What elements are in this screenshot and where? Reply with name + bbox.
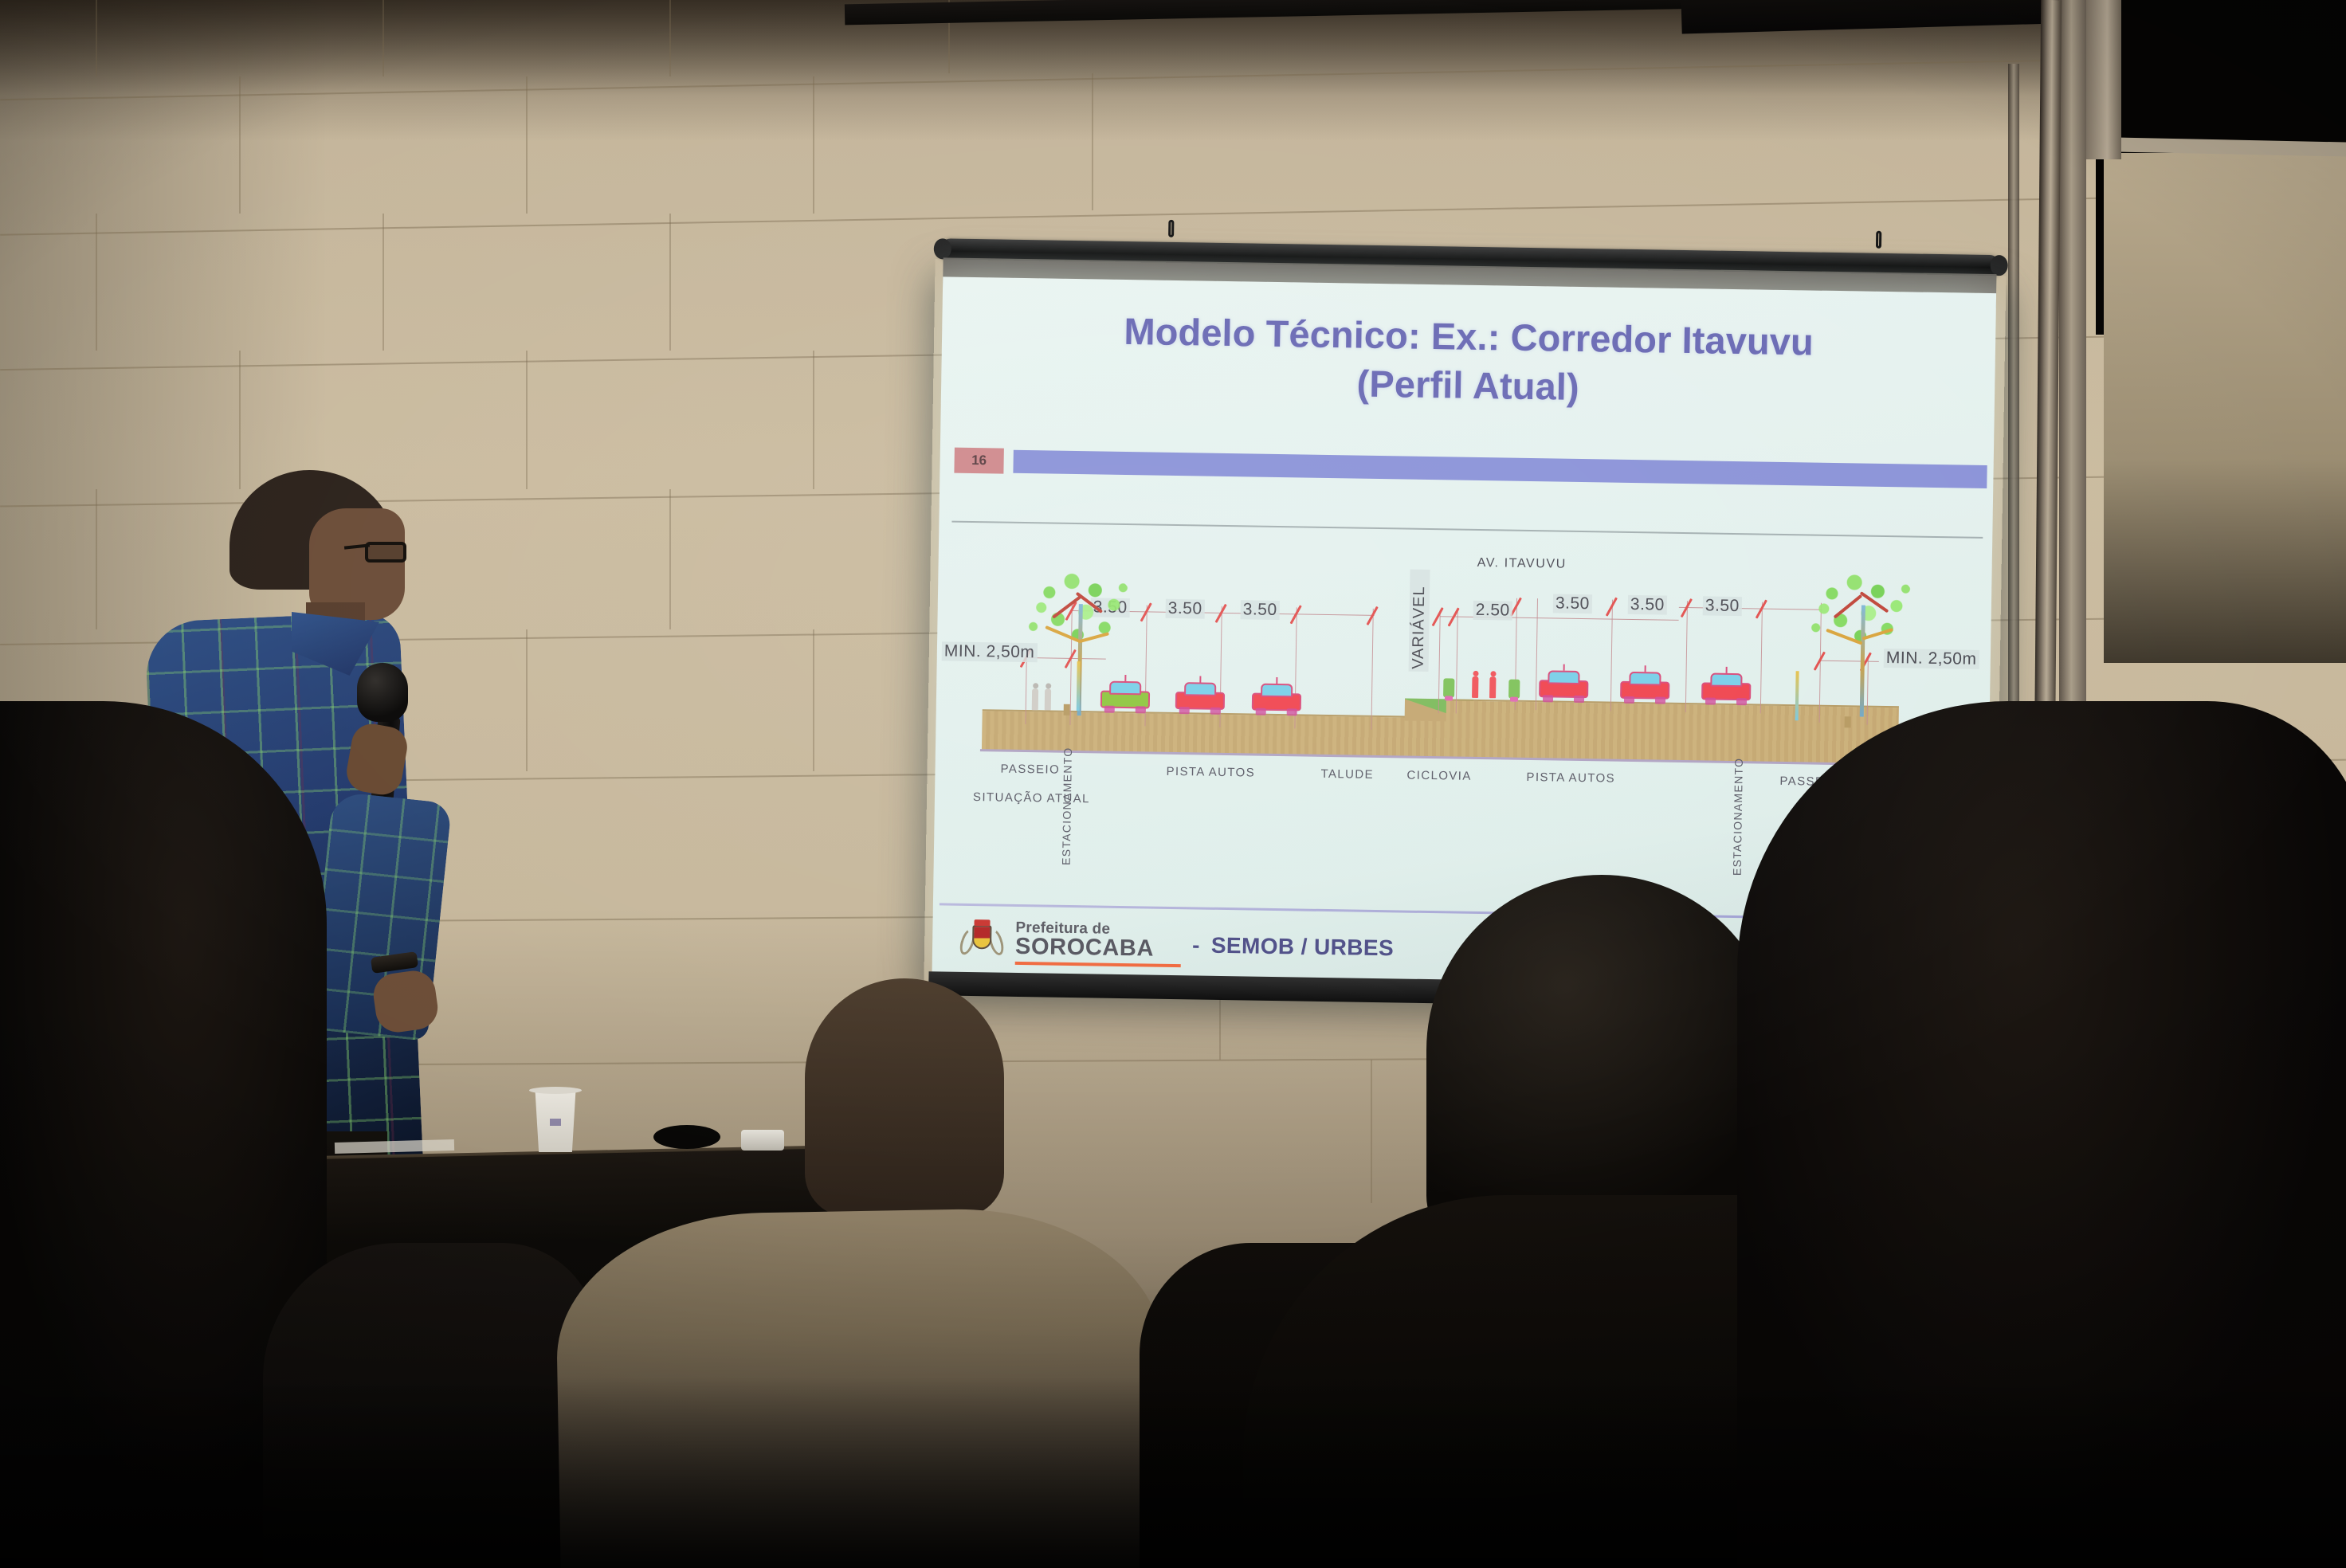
dimension-leader [1438,610,1441,713]
mortar-joint [1371,1060,1372,1203]
dimension-label: 3.50 [1166,599,1205,619]
zone-label-talude: TALUDE [1320,767,1374,782]
slide-divider-line [951,521,1983,539]
zone-label-pista-autos-right: PISTA AUTOS [1526,770,1615,786]
dimension-label: 3.50 [1703,596,1742,616]
zone-label-estacionamento-left: ESTACIONAMENTO [1060,763,1074,865]
median-bush [1443,678,1454,697]
bush-planter [1510,697,1518,702]
audience-head-right [1426,875,1777,1249]
dimension-line [1679,607,1822,610]
curb [1845,716,1851,727]
cup-logo [550,1119,561,1126]
car-right-1 [1539,668,1589,703]
audience-person-tan-jacket [555,1205,1167,1568]
car-right-3 [1701,671,1752,705]
mortar-joint [1092,73,1093,210]
dimension-leader [1456,610,1458,714]
mortar-joint [96,0,97,76]
mortar-joint [669,0,671,76]
car-right-2 [1620,670,1670,704]
cup-rim [529,1087,582,1094]
slide-title: Modelo Técnico: Ex.: Corredor Itavuvu (P… [941,304,1996,417]
mortar-joint [813,629,814,771]
slide-number-badge: 16 [954,448,1003,474]
dimension-leader [1536,598,1538,710]
bush-planter [1445,696,1453,700]
cyclist [1488,671,1498,698]
mortar-joint [382,0,384,76]
logo-line2: SOROCABA [1015,935,1181,962]
dimension-label-variavel: VARIÁVEL [1409,570,1430,672]
small-white-box [741,1130,784,1151]
dimension-leader [1760,602,1763,714]
mortar-joint [382,214,384,351]
mortar-joint [96,214,97,351]
cyclist [1470,671,1481,698]
tree-right [1802,564,1924,717]
footer-logo-text: Prefeitura de SOROCABA [1015,920,1182,967]
mortar-joint [813,76,814,214]
car-left-2 [1175,680,1226,715]
dimension-leader [1610,600,1613,711]
slide-footer: Prefeitura de SOROCABA - SEMOB / URBES [959,919,1395,971]
slide-header-bar: 16 [940,447,1993,491]
mortar-joint [669,214,671,351]
slide-title-line1: Modelo Técnico: Ex.: Corredor Itavuvu [1124,310,1814,363]
zone-label-estacionamento-right: ESTACIONAMENTO [1731,774,1745,876]
dimension-label: 3.50 [1628,595,1667,615]
pedestrian [1043,683,1053,710]
dimension-label: 2.50 [1473,601,1512,621]
logo-underline [1015,962,1181,967]
footer-department: SEMOB / URBES [1211,933,1395,962]
dimension-label: 3.50 [1241,600,1280,620]
microphone-icon [357,663,408,722]
mortar-joint [526,351,528,489]
pedestrian [1030,683,1041,710]
glasses-icon [365,542,406,563]
audience-head-center [805,978,1004,1217]
mortar-joint [239,76,241,214]
screen-mount-hook [1168,220,1174,237]
situation-label: SITUAÇÃO ATUAL [973,790,1090,806]
audience-silhouette-mid-left [263,1243,598,1568]
footer-separator: - [1192,932,1200,958]
slide-title-line2: (Perfil Atual) [941,352,1995,417]
door-jamb [2086,0,2121,159]
median-bush [1508,680,1520,699]
slide-accent-bar [1013,450,1987,488]
dimension-leader [1685,601,1688,712]
mortar-joint [669,489,671,629]
coat-of-arms-icon [959,920,1005,964]
car-left-1 [1100,680,1151,714]
car-left-3 [1252,682,1302,716]
zone-label-ciclovia: CICLOVIA [1406,769,1471,783]
zone-label-passeio-left: PASSEIO [1000,762,1060,777]
presenter-hand-lower [371,968,441,1035]
street-name-label: AV. ITAVUVU [1477,556,1567,572]
screenshot-root: Modelo Técnico: Ex.: Corredor Itavuvu (P… [0,0,2346,1568]
zone-label-pista-autos-left: PISTA AUTOS [1166,765,1255,780]
audience-silhouette-far-right [1737,701,2346,1568]
screen-mount-hook [1876,231,1881,249]
right-wall-section [2104,153,2346,663]
dimension-leader [1371,609,1373,730]
mortar-joint [526,629,528,771]
dimension-label: 3.50 [1553,594,1592,613]
mortar-joint [526,76,528,214]
mortar-joint [96,489,97,629]
mortar-joint [813,351,814,489]
dark-object [653,1125,720,1149]
roller-cap-right [1990,255,2007,276]
